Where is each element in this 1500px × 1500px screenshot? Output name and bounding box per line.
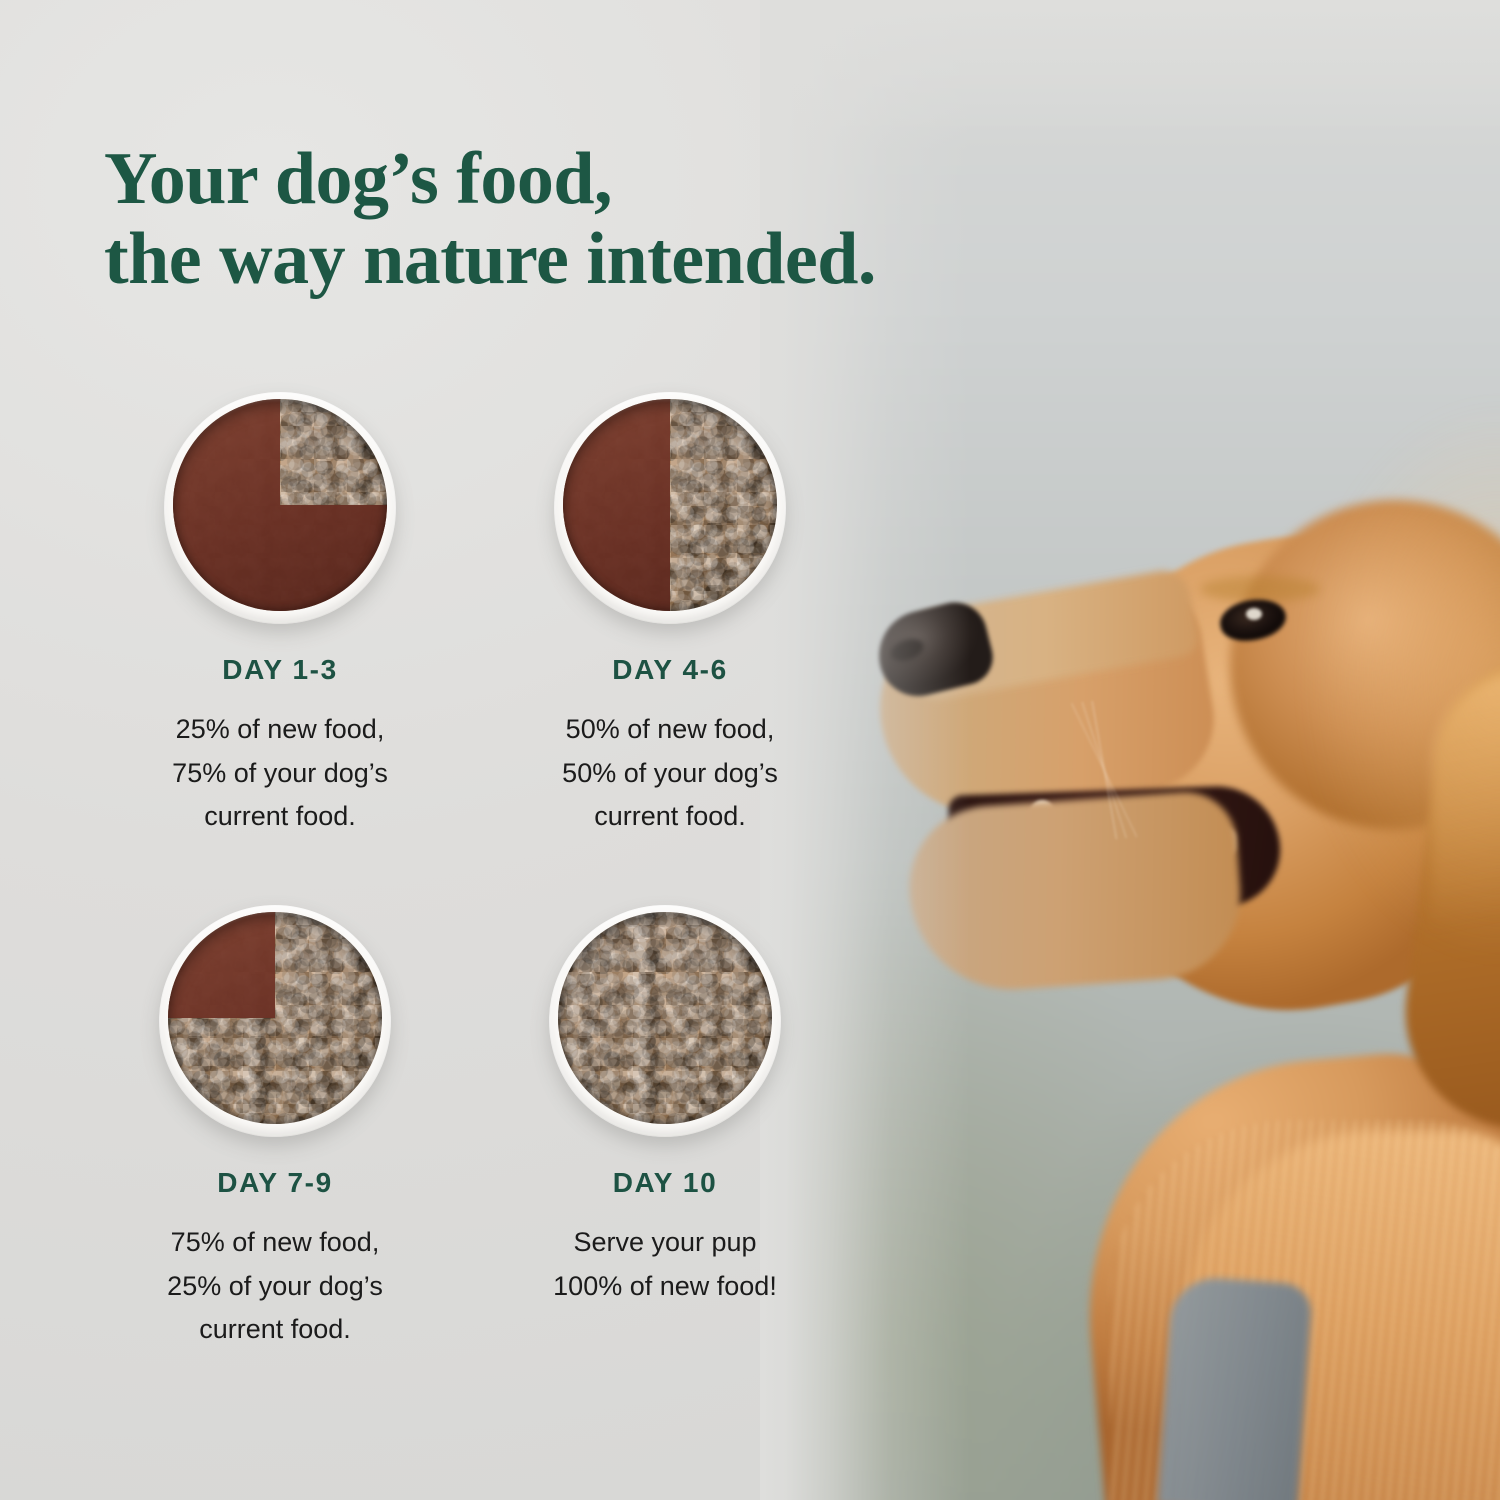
kibble-texture <box>558 912 772 1124</box>
day-label: DAY 10 <box>470 1167 860 1199</box>
sunlight-glow <box>1060 400 1500 1200</box>
bowl-dish <box>554 392 786 624</box>
day-label: DAY 4-6 <box>475 654 865 686</box>
bowl-dish <box>159 905 391 1137</box>
step-description: Serve your pup100% of new food! <box>470 1221 860 1308</box>
dog-collar <box>1157 1275 1313 1500</box>
bowl-day-1-3 <box>164 392 396 624</box>
step-day-10: DAY 10 Serve your pup100% of new food! <box>470 905 860 1308</box>
page-title-line-2: the way nature intended. <box>104 220 876 300</box>
infographic-canvas: Your dog’s food, the way nature intended… <box>0 0 1500 1500</box>
step-description: 25% of new food,75% of your dog’scurrent… <box>85 708 475 839</box>
bowl-food <box>173 399 387 611</box>
step-day-7-9: DAY 7-9 75% of new food,25% of your dog’… <box>80 905 470 1352</box>
bowl-dish <box>164 392 396 624</box>
bowl-food <box>168 912 382 1124</box>
bowl-day-7-9 <box>159 905 391 1137</box>
bowl-day-4-6 <box>554 392 786 624</box>
bowl-food <box>563 399 777 611</box>
bowl-day-10 <box>549 905 781 1137</box>
page-title: Your dog’s food, the way nature intended… <box>104 140 876 300</box>
day-label: DAY 7-9 <box>80 1167 470 1199</box>
bowl-dish <box>549 905 781 1137</box>
step-description: 50% of new food,50% of your dog’scurrent… <box>475 708 865 839</box>
step-description: 75% of new food,25% of your dog’scurrent… <box>80 1221 470 1352</box>
page-title-line-1: Your dog’s food, <box>104 138 612 220</box>
bowl-food <box>558 912 772 1124</box>
day-label: DAY 1-3 <box>85 654 475 686</box>
step-day-4-6: DAY 4-6 50% of new food,50% of your dog’… <box>475 392 865 839</box>
step-day-1-3: DAY 1-3 25% of new food,75% of your dog’… <box>85 392 475 839</box>
